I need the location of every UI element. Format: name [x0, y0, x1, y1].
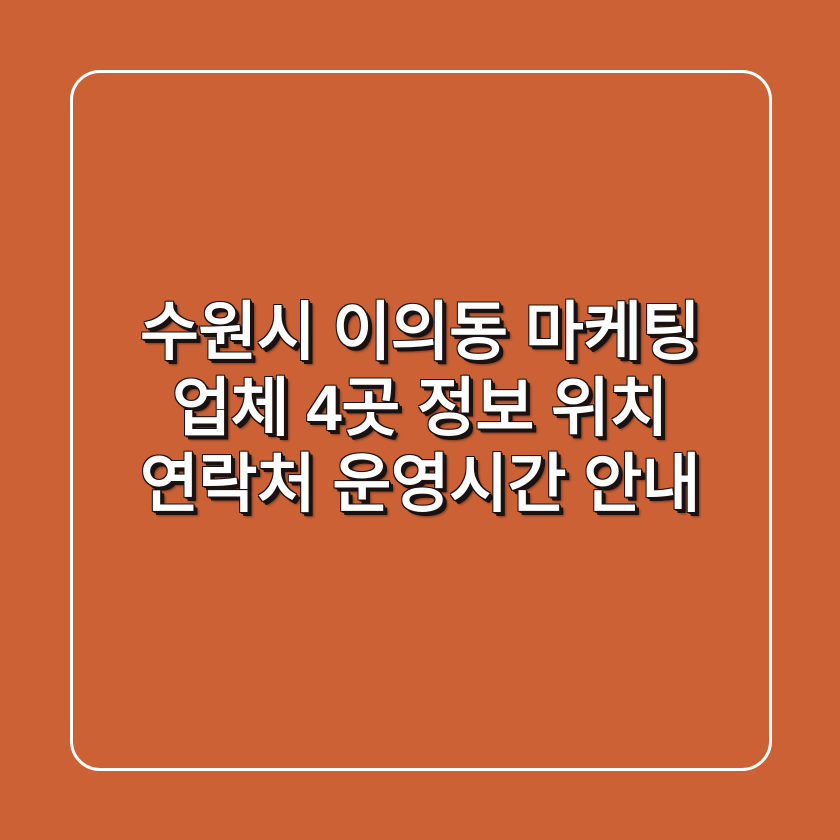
title-line-1: 수원시 이의동 마케팅 [78, 294, 762, 370]
page-title: 수원시 이의동 마케팅 업체 4곳 정보 위치 연락처 운영시간 안내 [0, 0, 840, 828]
title-line-2: 업체 4곳 정보 위치 [78, 370, 762, 446]
thumbnail-card: 수원시 이의동 마케팅 업체 4곳 정보 위치 연락처 운영시간 안내 [0, 0, 840, 840]
title-line-3: 연락처 운영시간 안내 [78, 446, 762, 522]
